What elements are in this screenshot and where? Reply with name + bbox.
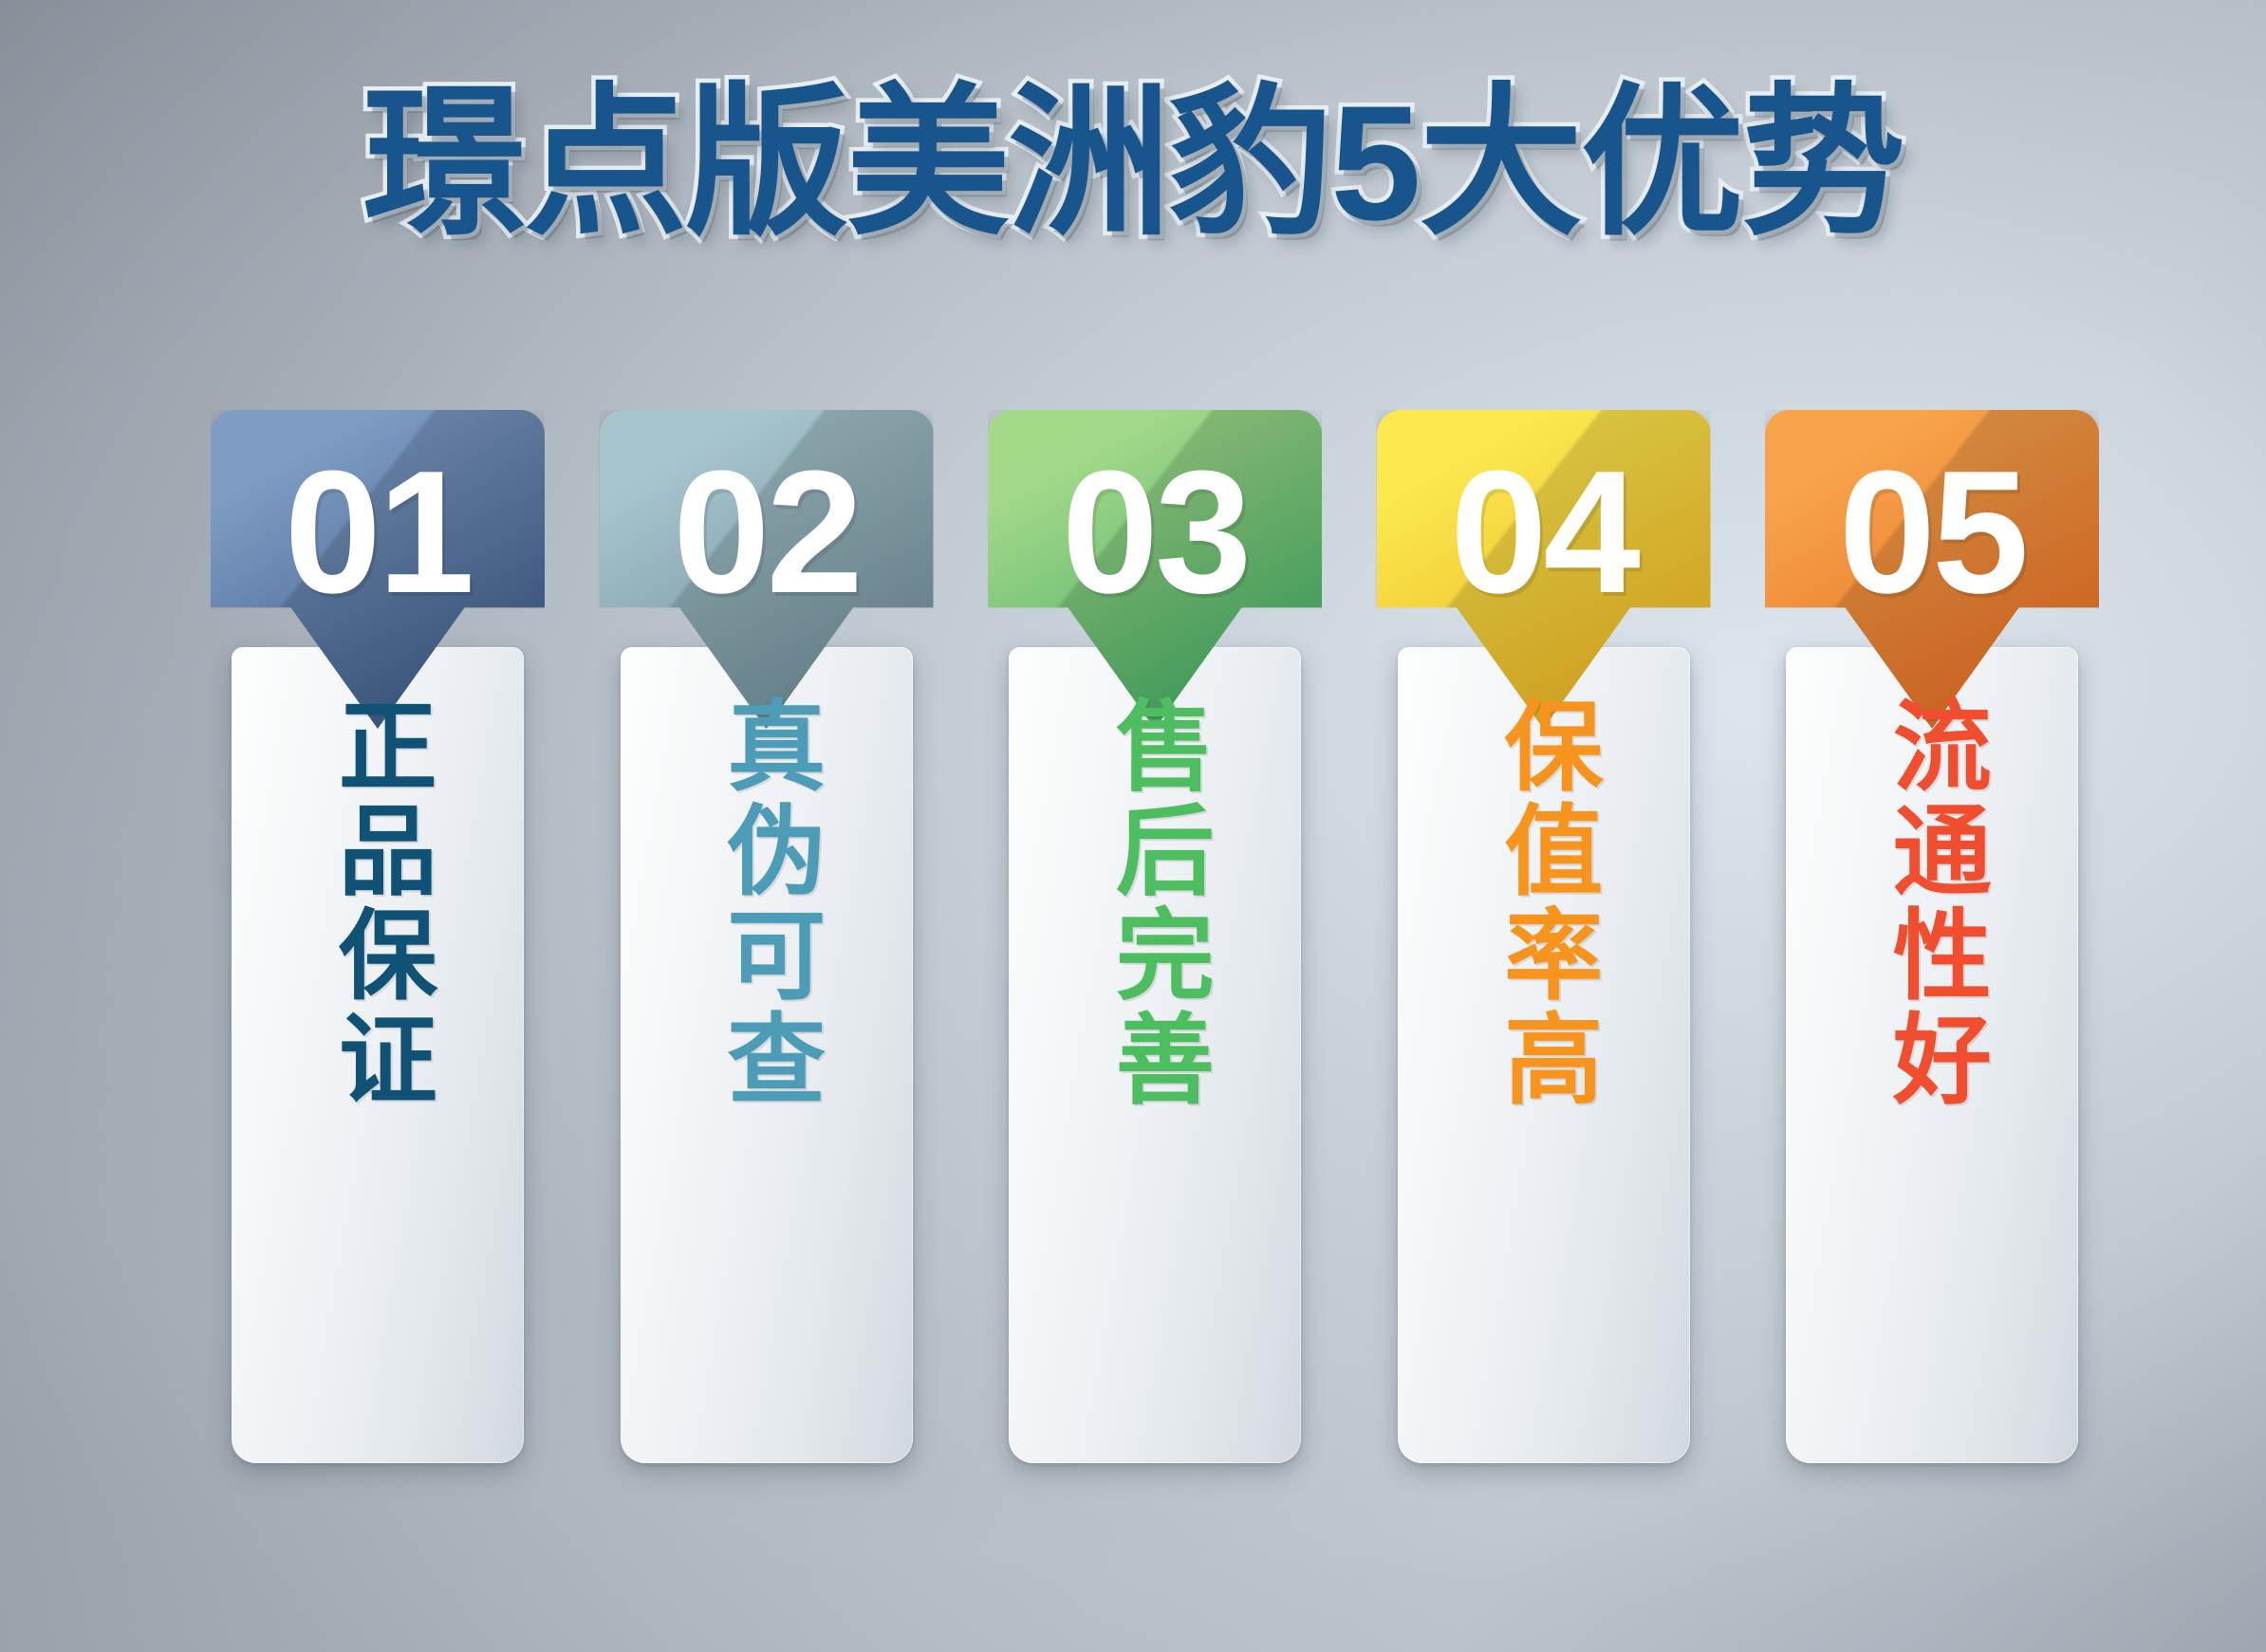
card-number-1: 01 xyxy=(211,444,545,619)
advantage-card-1[interactable]: 01 正品保证 xyxy=(211,410,545,1463)
card-number-4: 04 xyxy=(1377,444,1711,619)
card-label-wrapper-5: 流通性好 xyxy=(1765,695,2099,1169)
advantage-card-4[interactable]: 04 保值率高 xyxy=(1377,410,1711,1463)
card-label-1: 正品保证 xyxy=(323,695,433,1112)
advantage-card-3[interactable]: 03 售后完善 xyxy=(988,410,1322,1463)
page-title-wrapper: 璟点版美洲豹5大优势 xyxy=(0,82,2266,245)
card-label-4: 保值率高 xyxy=(1488,695,1598,1112)
advantage-card-list: 01 正品保证 02 真伪可查 03 售后完善 04 保值率高 xyxy=(211,410,2099,1463)
advantage-card-2[interactable]: 02 真伪可查 xyxy=(600,410,934,1463)
card-number-2: 02 xyxy=(600,444,934,619)
card-label-wrapper-4: 保值率高 xyxy=(1377,695,1711,1169)
card-label-5: 流通性好 xyxy=(1877,695,1987,1112)
card-label-wrapper-3: 售后完善 xyxy=(988,695,1322,1169)
page-title: 璟点版美洲豹5大优势 xyxy=(362,82,1904,245)
card-label-3: 售后完善 xyxy=(1100,695,1210,1112)
card-label-wrapper-1: 正品保证 xyxy=(211,695,545,1169)
card-number-5: 05 xyxy=(1765,444,2099,619)
card-label-wrapper-2: 真伪可查 xyxy=(600,695,934,1169)
advantage-card-5[interactable]: 05 流通性好 xyxy=(1765,410,2099,1463)
card-number-3: 03 xyxy=(988,444,1322,619)
card-label-2: 真伪可查 xyxy=(711,695,821,1112)
